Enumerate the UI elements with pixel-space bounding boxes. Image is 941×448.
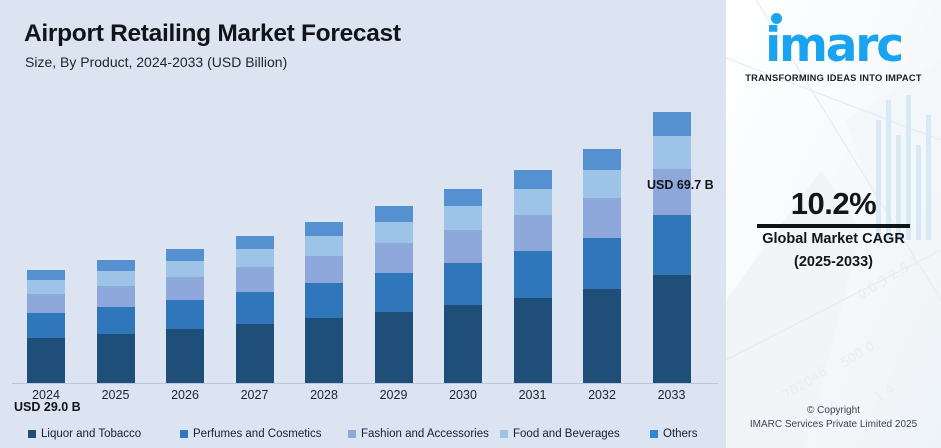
bar-segment[interactable]	[166, 329, 204, 383]
stacked-bar[interactable]	[514, 170, 552, 383]
legend-item-liquor-and-tobacco[interactable]: Liquor and Tobacco	[28, 428, 141, 440]
x-tick-label-2033: 2033	[638, 388, 706, 402]
bar-slot-2029	[360, 86, 428, 383]
copyright-line-1: © Copyright	[726, 405, 941, 416]
bar-segment[interactable]	[166, 261, 204, 277]
bar-segment[interactable]	[305, 236, 343, 255]
bar-slot-2028	[290, 86, 358, 383]
x-tick-label-2024: 2024	[12, 388, 80, 402]
bar-segment[interactable]	[166, 249, 204, 261]
bar-slot-2031	[499, 86, 567, 383]
legend-swatch-icon	[28, 430, 36, 438]
bar-segment[interactable]	[514, 170, 552, 189]
brand-panel: 500.0 1 4 702046 02768 0.0 3 2 5 1 imarc…	[726, 0, 941, 448]
bar-segment[interactable]	[375, 222, 413, 243]
stacked-bar[interactable]	[444, 189, 482, 383]
x-tick-label-2027: 2027	[221, 388, 289, 402]
legend-item-fashion-and-accessories[interactable]: Fashion and Accessories	[348, 428, 489, 440]
bar-segment[interactable]	[236, 292, 274, 324]
legend-swatch-icon	[348, 430, 356, 438]
bar-segment[interactable]	[236, 324, 274, 383]
bar-segment[interactable]	[236, 267, 274, 292]
logo-dot-icon	[771, 13, 782, 24]
cagr-divider	[757, 224, 910, 228]
bar-segment[interactable]	[27, 338, 65, 383]
bar-segment[interactable]	[166, 300, 204, 330]
callout-last-value: USD 69.7 B	[647, 178, 714, 192]
legend-swatch-icon	[180, 430, 188, 438]
bar-segment[interactable]	[583, 198, 621, 238]
bar-segment[interactable]	[375, 273, 413, 312]
legend-label: Food and Beverages	[513, 428, 620, 440]
brand-logo: imarc TRANSFORMING IDEAS INTO IMPACT	[726, 22, 941, 83]
bar-segment[interactable]	[375, 206, 413, 222]
stacked-bar[interactable]	[166, 248, 204, 383]
chart-title: Airport Retailing Market Forecast	[24, 20, 401, 48]
x-tick-label-2026: 2026	[151, 388, 219, 402]
legend-item-others[interactable]: Others	[650, 428, 698, 440]
bar-segment[interactable]	[305, 283, 343, 318]
legend-swatch-icon	[500, 430, 508, 438]
logo-tagline: TRANSFORMING IDEAS INTO IMPACT	[726, 73, 941, 83]
bar-segment[interactable]	[444, 206, 482, 229]
chart-page: Airport Retailing Market Forecast Size, …	[0, 0, 941, 448]
bar-segment[interactable]	[444, 189, 482, 206]
bar-segment[interactable]	[653, 275, 691, 383]
bar-segment[interactable]	[236, 236, 274, 249]
stacked-bar[interactable]	[27, 270, 65, 383]
bar-slot-2026	[151, 86, 219, 383]
legend-label: Fashion and Accessories	[361, 428, 489, 440]
chart-legend: Liquor and TobaccoPerfumes and Cosmetics…	[0, 424, 726, 444]
x-axis: 2024202520262027202820292030203120322033	[0, 388, 726, 410]
bar-segment[interactable]	[514, 189, 552, 215]
bar-segment[interactable]	[97, 271, 135, 286]
bar-slot-2024	[12, 86, 80, 383]
bar-segment[interactable]	[97, 260, 135, 271]
x-tick-label-2032: 2032	[568, 388, 636, 402]
bar-segment[interactable]	[514, 298, 552, 383]
legend-label: Liquor and Tobacco	[41, 428, 141, 440]
bar-segment[interactable]	[305, 222, 343, 237]
x-tick-label-2031: 2031	[499, 388, 567, 402]
copyright-line-2: IMARC Services Private Limited 2025	[726, 419, 941, 430]
bar-segment[interactable]	[305, 256, 343, 283]
bar-segment[interactable]	[583, 289, 621, 383]
bar-slot-2032	[568, 86, 636, 383]
bar-slot-2033	[638, 86, 706, 383]
cagr-period: (2025-2033)	[726, 254, 941, 270]
bar-segment[interactable]	[653, 112, 691, 136]
plot-area: USD 29.0 B USD 69.7 B	[0, 86, 726, 384]
bar-segment[interactable]	[236, 249, 274, 267]
bar-segment[interactable]	[97, 286, 135, 307]
legend-label: Perfumes and Cosmetics	[193, 428, 321, 440]
bar-segment[interactable]	[375, 243, 413, 273]
bar-segment[interactable]	[583, 238, 621, 289]
x-tick-label-2029: 2029	[360, 388, 428, 402]
chart-subtitle: Size, By Product, 2024-2033 (USD Billion…	[25, 54, 287, 70]
bar-segment[interactable]	[166, 277, 204, 300]
logo-wordmark: imarc	[765, 22, 902, 69]
bar-segment[interactable]	[305, 318, 343, 383]
bar-segment[interactable]	[583, 149, 621, 170]
bar-segment[interactable]	[444, 230, 482, 263]
stacked-bar[interactable]	[653, 112, 691, 383]
cagr-value: 10.2%	[726, 186, 941, 222]
x-tick-label-2030: 2030	[429, 388, 497, 402]
legend-label: Others	[663, 428, 698, 440]
bar-segment[interactable]	[97, 307, 135, 334]
bar-segment[interactable]	[375, 312, 413, 383]
bar-segment[interactable]	[27, 294, 65, 313]
stacked-bar[interactable]	[583, 149, 621, 383]
bar-segment[interactable]	[514, 251, 552, 298]
stacked-bar[interactable]	[375, 206, 413, 383]
legend-swatch-icon	[650, 430, 658, 438]
bar-segment[interactable]	[514, 215, 552, 251]
x-tick-label-2028: 2028	[290, 388, 358, 402]
bar-segment[interactable]	[583, 170, 621, 198]
axis-baseline	[12, 383, 718, 384]
stacked-bar[interactable]	[97, 260, 135, 383]
bar-segment[interactable]	[27, 270, 65, 280]
x-tick-label-2025: 2025	[82, 388, 150, 402]
stacked-bar[interactable]	[305, 222, 343, 383]
chart-panel: Airport Retailing Market Forecast Size, …	[0, 0, 726, 448]
cagr-label: Global Market CAGR	[726, 231, 941, 247]
bar-segment[interactable]	[444, 263, 482, 306]
stacked-bar[interactable]	[236, 236, 274, 383]
bar-segment[interactable]	[27, 280, 65, 294]
bar-segment[interactable]	[653, 136, 691, 169]
legend-item-perfumes-and-cosmetics[interactable]: Perfumes and Cosmetics	[180, 428, 321, 440]
bar-segment[interactable]	[653, 215, 691, 275]
bar-slot-2027	[221, 86, 289, 383]
legend-item-food-and-beverages[interactable]: Food and Beverages	[500, 428, 620, 440]
bar-segment[interactable]	[444, 305, 482, 383]
bar-segment[interactable]	[97, 334, 135, 383]
bar-slot-2025	[82, 86, 150, 383]
bar-slot-2030	[429, 86, 497, 383]
bar-segment[interactable]	[27, 313, 65, 338]
